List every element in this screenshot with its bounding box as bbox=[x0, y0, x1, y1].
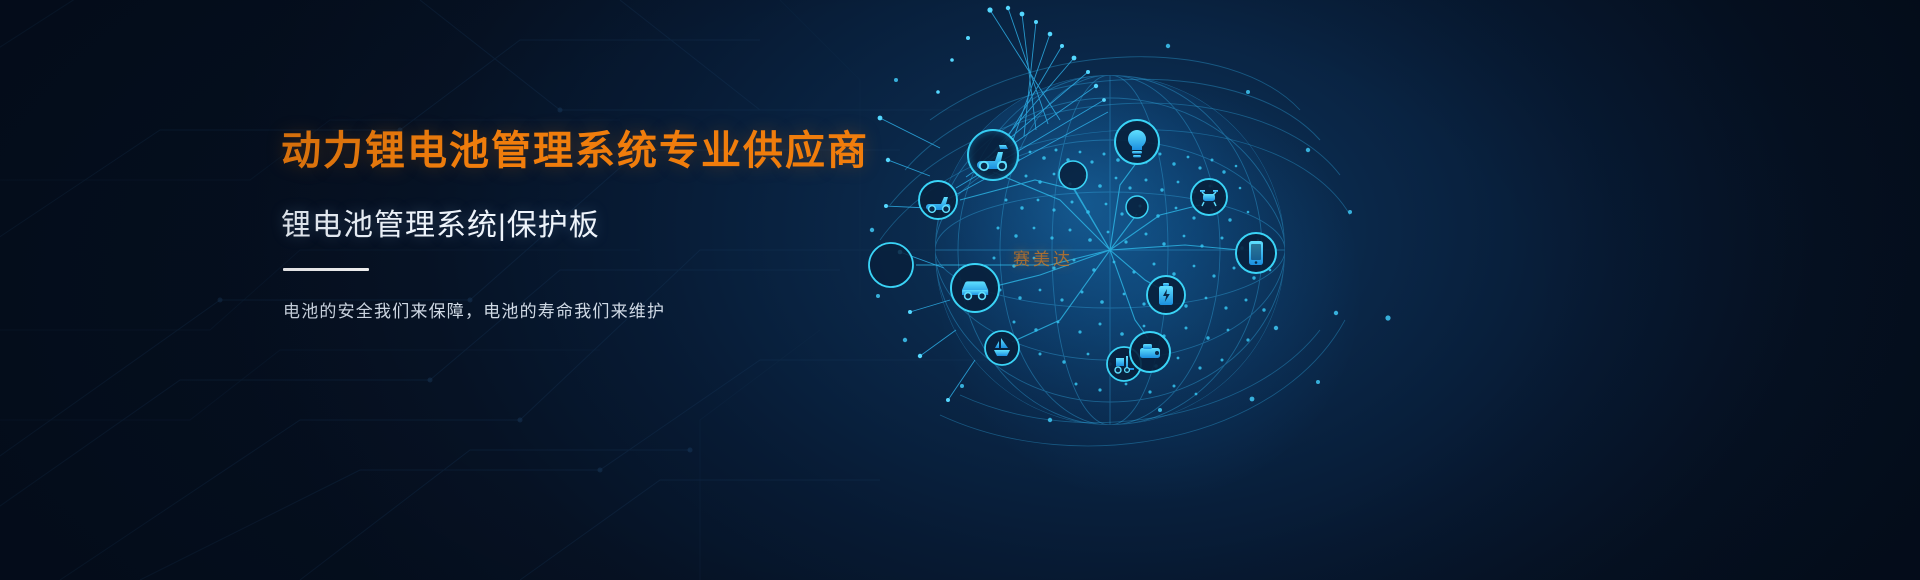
node-battery[interactable] bbox=[1147, 276, 1185, 314]
phone-icon bbox=[1249, 241, 1263, 265]
node-ebike[interactable] bbox=[919, 181, 957, 219]
globe-brandmark: 赛美达 bbox=[1013, 245, 1073, 270]
node-bulb[interactable] bbox=[1115, 120, 1159, 164]
node-car[interactable] bbox=[951, 264, 999, 312]
node-empty-3[interactable] bbox=[869, 243, 913, 287]
node-drone[interactable] bbox=[1191, 179, 1227, 215]
node-empty-1[interactable] bbox=[1059, 161, 1087, 189]
node-phone[interactable] bbox=[1236, 233, 1276, 273]
globe-network-illustration bbox=[0, 0, 1920, 580]
node-scale[interactable] bbox=[1130, 332, 1170, 372]
hero-banner: 动力锂电池管理系统专业供应商 锂电池管理系统|保护板 电池的安全我们来保障，电池… bbox=[0, 0, 1920, 580]
node-empty-2[interactable] bbox=[1126, 196, 1148, 218]
battery-icon bbox=[1159, 283, 1173, 305]
node-boat[interactable] bbox=[985, 331, 1019, 365]
node-scooter[interactable] bbox=[968, 130, 1018, 180]
